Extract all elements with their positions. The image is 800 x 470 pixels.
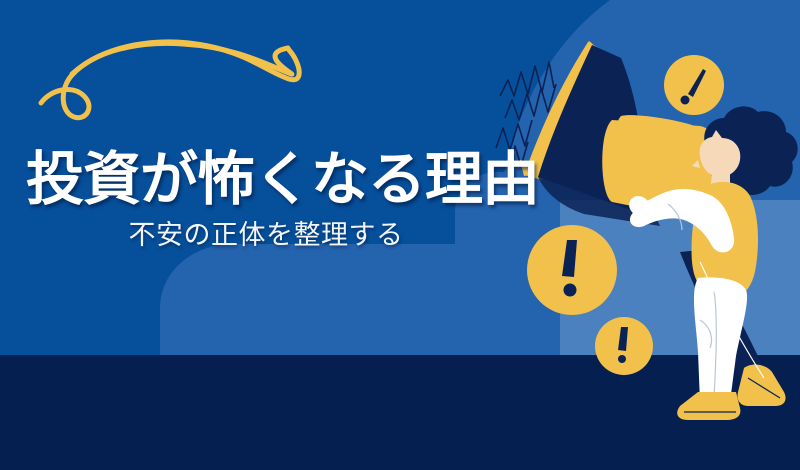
person-illustration-layer (0, 0, 800, 470)
person-back-shoe (737, 365, 785, 406)
person-front-shoe (677, 392, 740, 420)
person-nose (692, 160, 700, 168)
banner-hero: 投資が怖くなる理由 不安の正体を整理する (0, 0, 800, 470)
person-front-leg (694, 277, 747, 402)
